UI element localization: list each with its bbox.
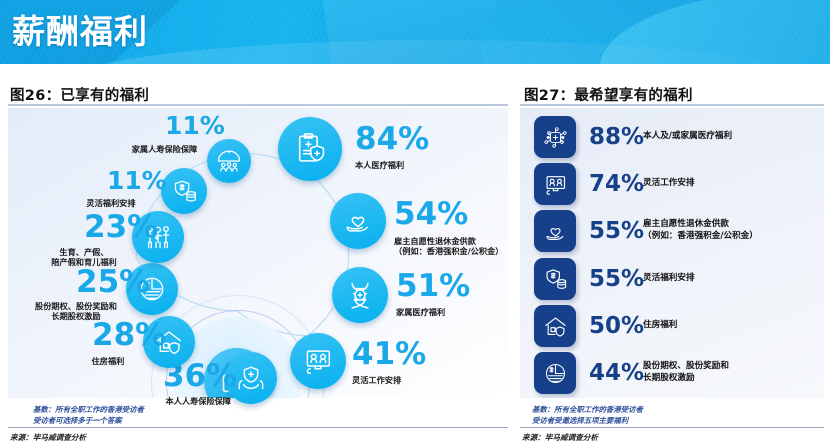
pct-value-28: 28% xyxy=(92,321,166,350)
left-chart-source: 来源：毕马威调查分析 xyxy=(10,432,86,443)
money-shield-coins-icon xyxy=(534,258,576,300)
pct-label-11-flex: 灵活福利安排 xyxy=(62,198,160,208)
pct-label-54: 雇主自愿性退休金供款 （例如：香港强积金/公积金） xyxy=(394,236,503,257)
pct-value-50: 50% xyxy=(589,315,643,338)
left-chart-title: 图26：已享有的福利 xyxy=(10,84,149,105)
pct-label-23: 生育、产假、 陪产假和育儿福利 xyxy=(22,247,146,268)
left-title-rule xyxy=(8,104,508,106)
pct-value-55-pension: 55% xyxy=(589,220,643,243)
pct-value-51: 51% xyxy=(396,272,470,301)
banner-title: 薪酬福利 xyxy=(12,5,148,53)
pct-label-55-pension: 雇主自愿性退休金供款 （例如：香港强积金/公积金） xyxy=(643,219,758,242)
pct-label-88: 本人及/或家属医疗福利 xyxy=(643,131,732,143)
pct-label-84: 本人医疗福利 xyxy=(355,160,404,170)
node-money-shield-coins[interactable] xyxy=(161,168,207,214)
node-medical-clipboard-shield[interactable] xyxy=(278,117,342,181)
monitor-remote-work-icon xyxy=(534,163,576,205)
right-chart-note: 基数：所有全职工作的香港受访者 受访者受邀选择五项主要福利 xyxy=(532,405,643,426)
pct-value-84: 84% xyxy=(355,125,429,154)
pct-value-55-flex: 55% xyxy=(589,268,643,291)
right-chart-source: 来源：毕马威调查分析 xyxy=(522,432,598,443)
pct-label-25: 股份期权、股份奖励和 长期股权激励 xyxy=(14,301,138,322)
pct-value-54: 54% xyxy=(394,200,468,229)
node-monitor-remote-work[interactable] xyxy=(290,333,346,389)
node-dna-medical[interactable] xyxy=(332,267,388,323)
pct-value-11-flex: 11% xyxy=(107,169,167,192)
node-heart-in-hand[interactable] xyxy=(330,193,386,249)
pct-label-28: 住房福利 xyxy=(62,356,154,366)
right-title-rule xyxy=(520,104,824,106)
pct-value-88: 88% xyxy=(589,126,643,149)
pct-label-55-flex: 灵活福利安排 xyxy=(643,273,695,285)
list-item[interactable]: 55% 灵活福利安排 xyxy=(534,258,695,300)
list-item[interactable]: 44% 股份期权、股份奖励和 长期股权激励 xyxy=(534,352,729,394)
pct-value-11-life: 11% xyxy=(165,114,225,137)
right-chart-title: 图27：最希望享有的福利 xyxy=(524,84,693,105)
pct-label-11-life: 家属人寿保险保障 xyxy=(112,144,217,154)
pct-label-44: 股份期权、股份奖励和 长期股权激励 xyxy=(643,361,729,384)
figure-27-chart: 88% 本人及/或家属医疗福利 74% 灵活工作安排 55% 雇主自愿性退休金供… xyxy=(520,108,824,398)
page-header-banner: 薪酬福利 xyxy=(0,0,830,64)
pct-label-74: 灵活工作安排 xyxy=(643,178,695,190)
list-item[interactable]: 50% 住房福利 xyxy=(534,305,677,347)
right-source-rule xyxy=(520,427,824,428)
list-item[interactable]: 74% 灵活工作安排 xyxy=(534,163,695,205)
pct-value-44: 44% xyxy=(589,362,643,385)
pct-label-36: 本人人寿保险保障 xyxy=(133,396,231,406)
pct-value-41: 41% xyxy=(352,340,426,369)
pie-chart-dollar-icon xyxy=(534,352,576,394)
pct-label-51: 家属医疗福利 xyxy=(396,307,445,317)
list-item[interactable]: 55% 雇主自愿性退休金供款 （例如：香港强积金/公积金） xyxy=(534,210,758,252)
house-shield-icon xyxy=(534,305,576,347)
heart-in-hand-icon xyxy=(534,210,576,252)
pct-label-41: 灵活工作安排 xyxy=(352,375,401,385)
left-source-rule xyxy=(8,427,508,428)
pct-label-50: 住房福利 xyxy=(643,320,677,332)
medical-network-icon xyxy=(534,116,576,158)
pct-value-25: 25% xyxy=(76,268,150,297)
list-item[interactable]: 88% 本人及/或家属医疗福利 xyxy=(534,116,732,158)
pct-value-74: 74% xyxy=(589,173,643,196)
pct-value-23: 23% xyxy=(84,213,158,242)
left-chart-note: 基数：所有全职工作的香港受访者 受访者可选择多于一个答案 xyxy=(33,405,144,426)
